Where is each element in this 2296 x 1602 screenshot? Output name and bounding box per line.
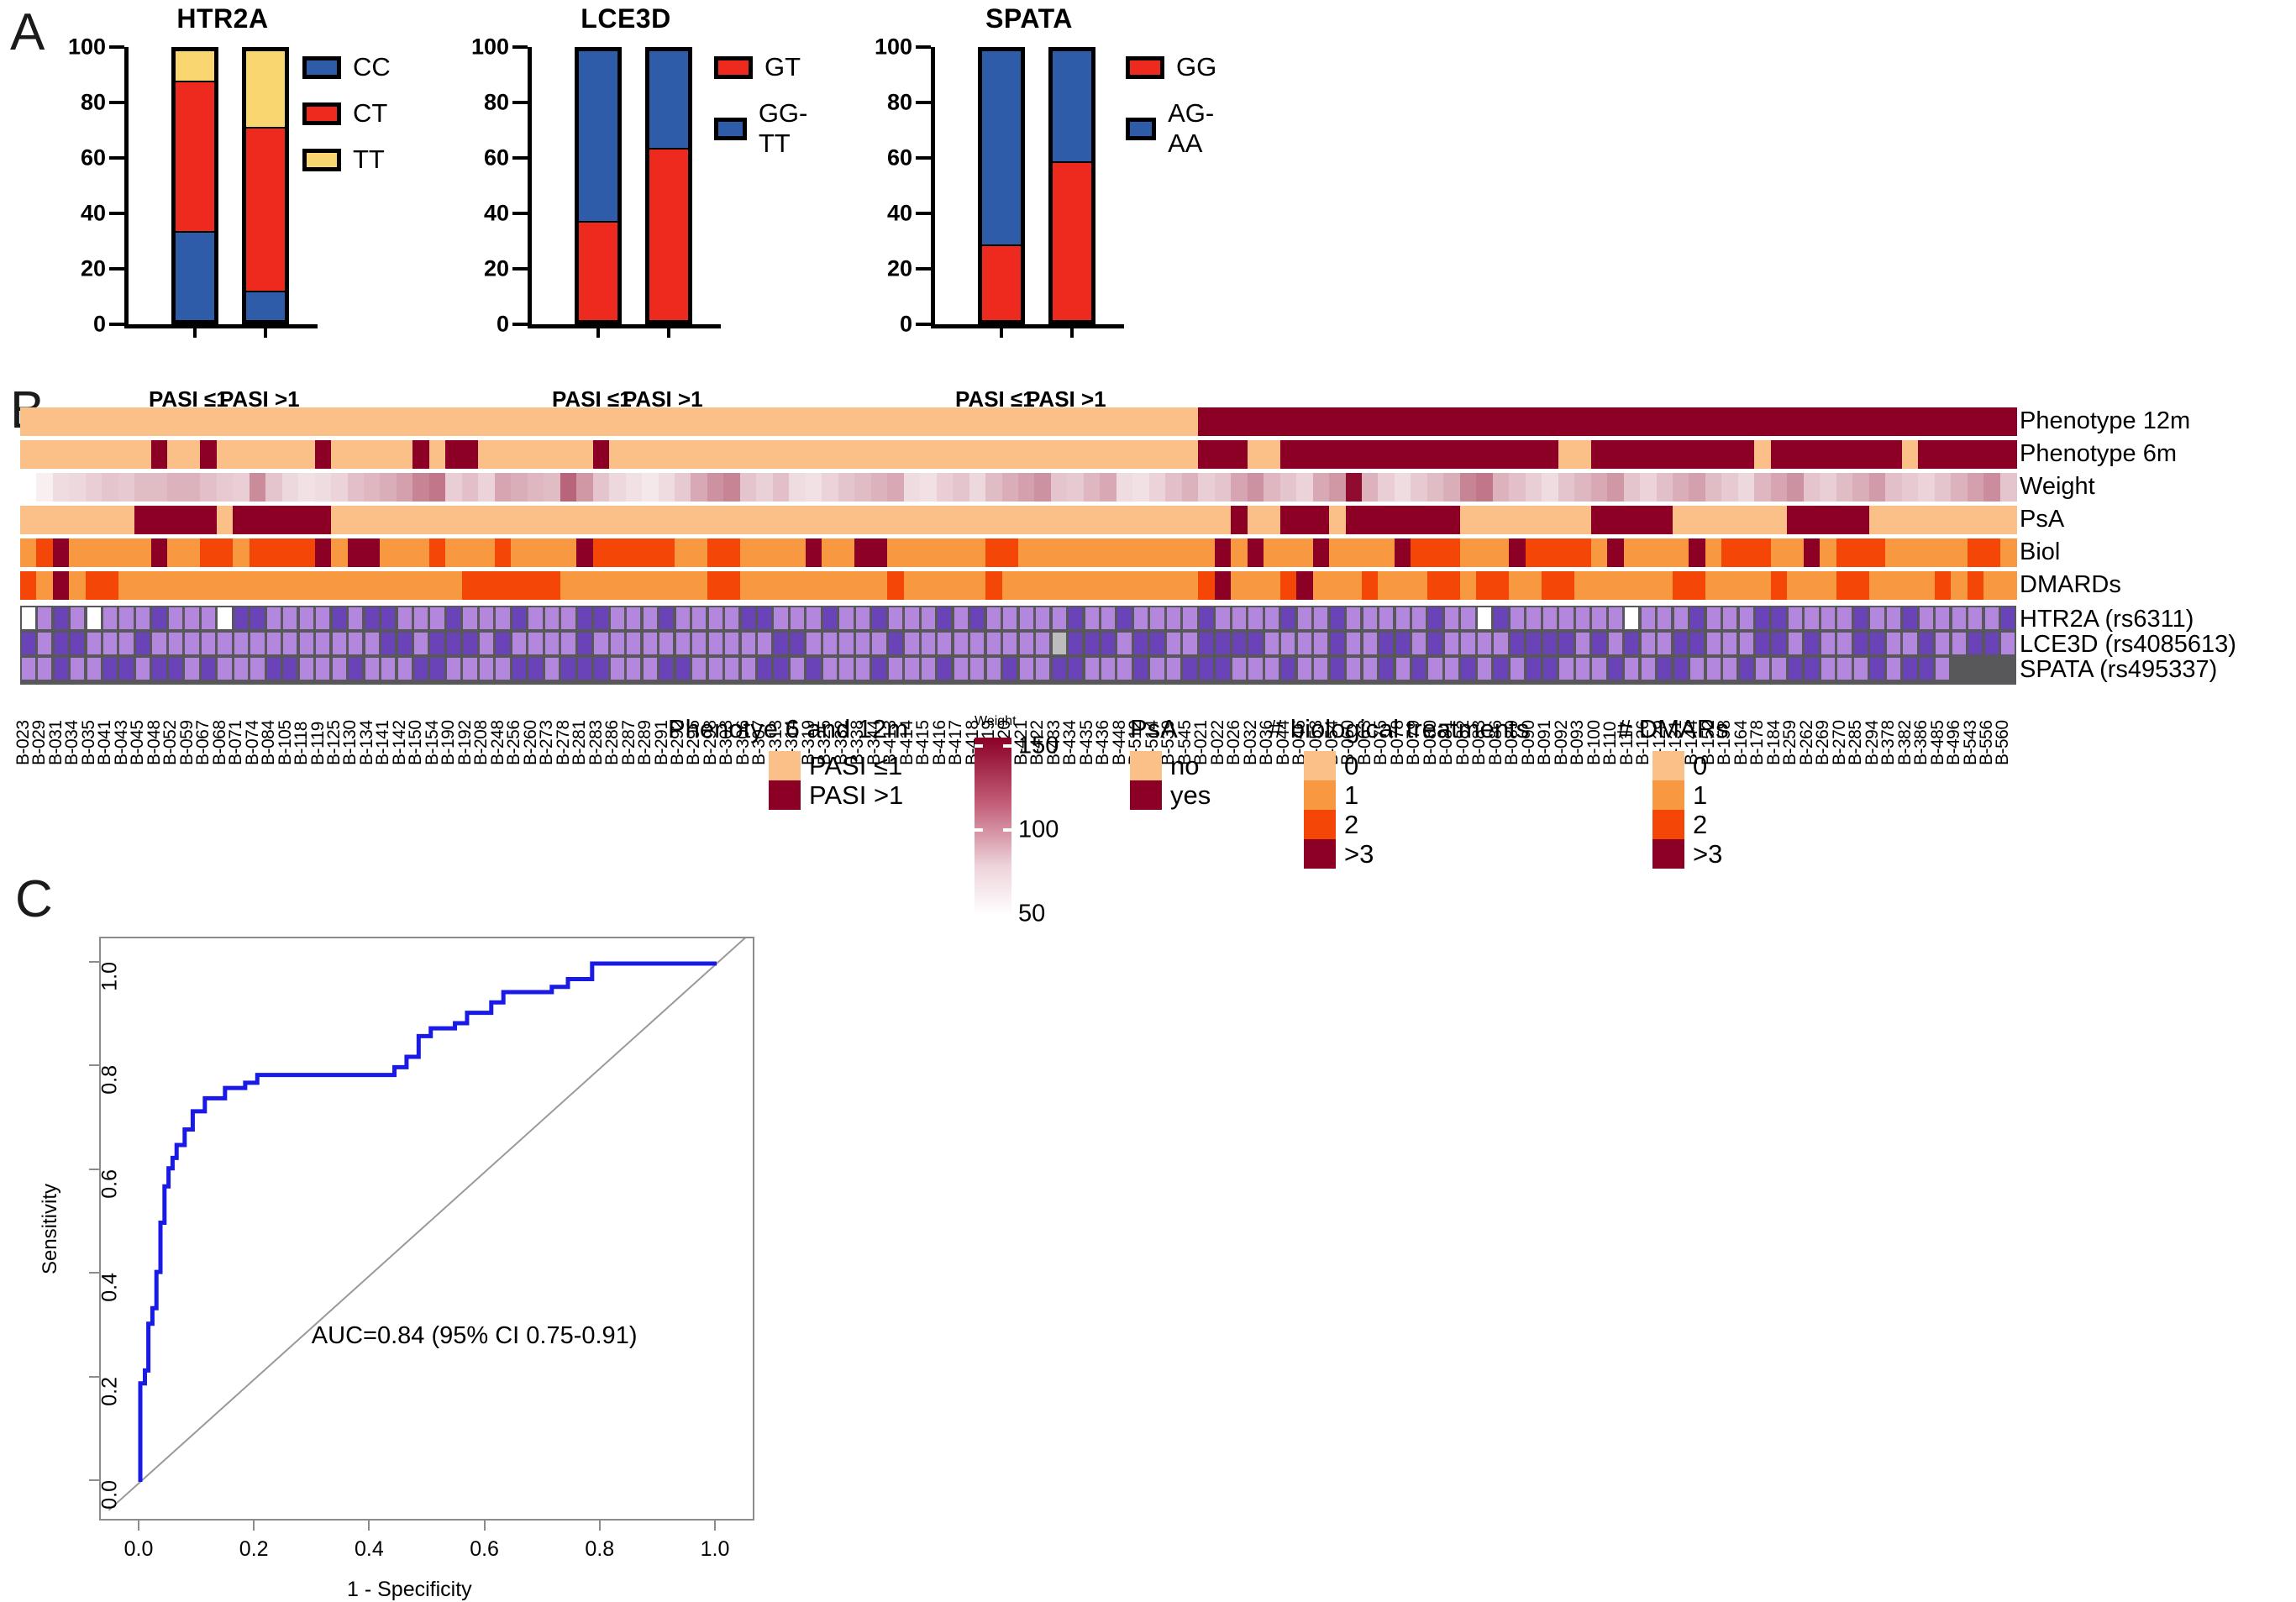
heatmap-cell bbox=[1443, 538, 1460, 567]
heatmap-cell bbox=[134, 473, 151, 502]
snp-cell bbox=[1658, 658, 1671, 680]
heatmap-cell bbox=[478, 571, 495, 600]
heatmap-cell bbox=[675, 571, 691, 600]
plot-area: 020406080100PASI ≤1PASI >1 bbox=[931, 47, 1099, 324]
snp-cell bbox=[709, 658, 722, 680]
snp-cell bbox=[774, 658, 787, 680]
heatmap-cell bbox=[1607, 506, 1624, 534]
heatmap-cell bbox=[1689, 506, 1705, 534]
snp-cell bbox=[1281, 658, 1295, 680]
heatmap-cell bbox=[1493, 473, 1510, 502]
heatmap-cell bbox=[544, 571, 560, 600]
snp-cell bbox=[185, 658, 198, 680]
snp-cell bbox=[1347, 607, 1360, 629]
heatmap-cell bbox=[1754, 440, 1771, 469]
heatmap-cell bbox=[1248, 440, 1264, 469]
heatmap-cell bbox=[1280, 440, 1297, 469]
heatmap-cell bbox=[1313, 407, 1330, 436]
heatmap-cell bbox=[854, 571, 871, 600]
heatmap-cell bbox=[233, 506, 250, 534]
heatmap-cell bbox=[412, 538, 429, 567]
snp-cell bbox=[1723, 633, 1736, 654]
legend-swatch bbox=[1304, 780, 1336, 810]
snp-cell bbox=[627, 607, 640, 629]
heatmap-cell bbox=[348, 440, 365, 469]
roc-x-tick-mark bbox=[484, 1521, 486, 1531]
heatmap-cell bbox=[478, 407, 495, 436]
snp-cell bbox=[136, 658, 150, 680]
heatmap-cell bbox=[756, 506, 773, 534]
heatmap-cell bbox=[1885, 571, 1902, 600]
snp-cell bbox=[1363, 658, 1377, 680]
heatmap-cell bbox=[298, 407, 315, 436]
snp-cell bbox=[300, 607, 313, 629]
heatmap-cell bbox=[1362, 571, 1379, 600]
snp-cell bbox=[1805, 607, 1818, 629]
heatmap-cell bbox=[723, 506, 740, 534]
snp-cell bbox=[806, 658, 820, 680]
heatmap-row-label: Phenotype 12m bbox=[2020, 409, 2190, 433]
heatmap-cell bbox=[1902, 473, 1919, 502]
heatmap-cell bbox=[544, 506, 560, 534]
heatmap-cell bbox=[1346, 473, 1363, 502]
heatmap-cell bbox=[1640, 440, 1657, 469]
heatmap-cell bbox=[1591, 538, 1608, 567]
snp-cell bbox=[561, 633, 575, 654]
snp-cell bbox=[1216, 607, 1229, 629]
heatmap-cell bbox=[1721, 538, 1738, 567]
snp-cell bbox=[1526, 607, 1540, 629]
heatmap-cell bbox=[1509, 473, 1526, 502]
snp-cell bbox=[758, 658, 771, 680]
bar-segment-ct bbox=[246, 127, 285, 291]
heatmap-cell bbox=[53, 407, 70, 436]
heatmap-cell bbox=[233, 407, 250, 436]
bar-segment-gg bbox=[1053, 161, 1091, 320]
heatmap-cell bbox=[36, 506, 53, 534]
sample-id-label: B-560 bbox=[1993, 720, 2013, 765]
snp-cell bbox=[250, 633, 264, 654]
snp-cell bbox=[447, 607, 460, 629]
heatmap-cell bbox=[1411, 407, 1427, 436]
heatmap-cell bbox=[1836, 506, 1853, 534]
heatmap-cell bbox=[462, 473, 479, 502]
snp-cell bbox=[774, 633, 787, 654]
snp-cell bbox=[381, 658, 395, 680]
heatmap-cell bbox=[1607, 407, 1624, 436]
heatmap-cell bbox=[1705, 538, 1722, 567]
y-tick-label: 40 bbox=[81, 201, 106, 227]
heatmap-cell bbox=[1427, 407, 1444, 436]
snp-cell bbox=[611, 607, 624, 629]
heatmap-cell bbox=[1624, 506, 1641, 534]
heatmap-cell bbox=[1264, 538, 1280, 567]
chart-title: HTR2A bbox=[25, 3, 420, 34]
heatmap-cell bbox=[1116, 538, 1133, 567]
snp-cell bbox=[316, 633, 329, 654]
heatmap-cell bbox=[887, 506, 904, 534]
snp-cell bbox=[839, 658, 853, 680]
snp-cell bbox=[38, 658, 51, 680]
snp-cell bbox=[512, 633, 526, 654]
y-tick-label: 100 bbox=[875, 34, 912, 60]
snp-cell bbox=[333, 658, 346, 680]
snp-cell bbox=[1985, 607, 1999, 629]
roc-x-tick-mark bbox=[714, 1521, 716, 1531]
heatmap-cell bbox=[626, 506, 643, 534]
heatmap-cell bbox=[265, 538, 282, 567]
snp-cell bbox=[1216, 633, 1229, 654]
heatmap-cell bbox=[1902, 407, 1919, 436]
heatmap-cell bbox=[920, 506, 937, 534]
heatmap-cell bbox=[723, 440, 740, 469]
heatmap-cell bbox=[2000, 538, 2017, 567]
heatmap-cell bbox=[626, 440, 643, 469]
snp-cell bbox=[594, 658, 607, 680]
snp-cell bbox=[1543, 633, 1557, 654]
heatmap-cell bbox=[985, 506, 1002, 534]
heatmap-cell bbox=[1983, 506, 2000, 534]
heatmap-cell bbox=[1968, 506, 1984, 534]
heatmap-cell bbox=[544, 538, 560, 567]
heatmap-cell bbox=[1002, 538, 1019, 567]
heatmap-cell bbox=[1526, 538, 1542, 567]
y-tick-mark bbox=[512, 212, 528, 215]
heatmap-cell bbox=[1248, 506, 1264, 534]
roc-y-tick-label: 0.6 bbox=[97, 1169, 122, 1199]
heatmap-cell bbox=[1231, 571, 1248, 600]
heatmap-cell bbox=[1165, 407, 1182, 436]
snp-cell bbox=[938, 633, 951, 654]
heatmap-cell bbox=[838, 538, 855, 567]
heatmap-cell bbox=[364, 538, 381, 567]
snp-cell bbox=[1952, 607, 1966, 629]
snp-cell bbox=[823, 607, 837, 629]
heatmap-cell bbox=[102, 473, 118, 502]
snp-cell bbox=[398, 607, 412, 629]
heatmap-cell bbox=[1574, 473, 1591, 502]
heatmap-cell bbox=[1264, 473, 1280, 502]
snp-cell bbox=[136, 607, 150, 629]
snp-cell bbox=[1837, 658, 1851, 680]
roc-x-tick-label: 0.8 bbox=[585, 1537, 614, 1562]
heatmap-cell bbox=[1968, 571, 1984, 600]
snp-cell bbox=[1903, 658, 1916, 680]
heatmap-cell bbox=[1362, 473, 1379, 502]
heatmap-cell bbox=[1526, 473, 1542, 502]
snp-cell bbox=[169, 607, 182, 629]
snp-cell bbox=[1101, 607, 1115, 629]
heatmap-cell bbox=[1542, 506, 1558, 534]
heatmap-cell bbox=[576, 473, 593, 502]
heatmap-cell bbox=[560, 473, 577, 502]
heatmap-cell bbox=[2000, 506, 2017, 534]
snp-genotype-grid bbox=[20, 606, 2016, 685]
snp-cell bbox=[1478, 607, 1491, 629]
heatmap-cell bbox=[282, 440, 299, 469]
heatmap-cell bbox=[1836, 407, 1853, 436]
heatmap-cell bbox=[1542, 440, 1558, 469]
snp-cell bbox=[987, 658, 1001, 680]
snp-cell bbox=[676, 658, 690, 680]
heatmap-cell bbox=[1460, 473, 1477, 502]
legend-swatch bbox=[302, 56, 341, 79]
heatmap-cell bbox=[1002, 506, 1019, 534]
heatmap-cell bbox=[1820, 571, 1836, 600]
legend-swatch bbox=[1304, 751, 1336, 780]
snp-cell bbox=[414, 633, 428, 654]
heatmap-cell bbox=[86, 473, 102, 502]
heatmap-cell bbox=[151, 407, 168, 436]
heatmap-cell bbox=[118, 440, 135, 469]
heatmap-cell bbox=[1149, 571, 1166, 600]
heatmap-cell bbox=[429, 407, 446, 436]
snp-cell bbox=[1805, 633, 1818, 654]
heatmap-cell bbox=[331, 571, 348, 600]
heatmap-cell bbox=[1591, 571, 1608, 600]
snp-cell bbox=[1936, 607, 1949, 629]
snp-cell bbox=[1232, 633, 1246, 654]
legend-item: CC bbox=[302, 52, 391, 82]
heatmap-cell bbox=[969, 473, 986, 502]
heatmap-cell bbox=[969, 538, 986, 567]
heatmap-cell bbox=[544, 440, 560, 469]
snp-cell bbox=[1707, 633, 1721, 654]
snp-cell bbox=[1887, 658, 1900, 680]
heatmap-cell bbox=[86, 440, 102, 469]
heatmap-cell bbox=[1395, 506, 1411, 534]
heatmap-cell bbox=[1329, 538, 1346, 567]
heatmap-cell bbox=[854, 538, 871, 567]
legend-label: PASI ≤1 bbox=[809, 751, 902, 781]
heatmap-cell bbox=[1787, 506, 1804, 534]
snp-cell bbox=[791, 658, 804, 680]
snp-cell bbox=[725, 658, 738, 680]
heatmap-cell bbox=[1427, 538, 1444, 567]
heatmap-cell bbox=[1951, 538, 1968, 567]
heatmap-cell bbox=[723, 571, 740, 600]
row-biol bbox=[20, 538, 2016, 567]
legend-swatch bbox=[769, 780, 801, 810]
x-tick-mark bbox=[667, 326, 670, 338]
heatmap-cell bbox=[1084, 473, 1101, 502]
plot-area: 020406080100PASI ≤1PASI >1 bbox=[124, 47, 292, 324]
heatmap-cell bbox=[1411, 538, 1427, 567]
heatmap-cell bbox=[1248, 538, 1264, 567]
heatmap-cell bbox=[151, 538, 168, 567]
heatmap-cell bbox=[659, 407, 675, 436]
heatmap-cell bbox=[53, 506, 70, 534]
heatmap-cell bbox=[1574, 407, 1591, 436]
snp-cell bbox=[1379, 633, 1393, 654]
heatmap-cell bbox=[740, 440, 757, 469]
legend-phenotype: Phenotye 6 and 12mPASI ≤1PASI >1 bbox=[668, 714, 908, 810]
heatmap-cell bbox=[1051, 407, 1068, 436]
heatmap-cell bbox=[315, 407, 332, 436]
snp-cell bbox=[1347, 633, 1360, 654]
bar-segment-gg-tt bbox=[579, 51, 617, 221]
heatmap-cell bbox=[1034, 440, 1051, 469]
heatmap-cell bbox=[560, 571, 577, 600]
y-tick-label: 40 bbox=[484, 201, 509, 227]
snp-cell bbox=[1854, 633, 1868, 654]
snp-cell bbox=[1428, 633, 1442, 654]
snp-cell bbox=[1870, 633, 1884, 654]
heatmap-cell bbox=[740, 407, 757, 436]
heatmap-cell bbox=[429, 440, 446, 469]
heatmap-cell bbox=[1640, 571, 1657, 600]
plot-area: 020406080100PASI ≤1PASI >1 bbox=[528, 47, 696, 324]
snp-cell bbox=[1281, 607, 1295, 629]
snp-cell bbox=[905, 607, 918, 629]
heatmap-cell bbox=[1264, 440, 1280, 469]
heatmap-cell bbox=[1264, 407, 1280, 436]
snp-cell bbox=[1805, 658, 1818, 680]
heatmap-cell bbox=[511, 407, 528, 436]
heatmap-cell bbox=[1051, 473, 1068, 502]
heatmap-cell bbox=[1198, 571, 1215, 600]
heatmap-cell bbox=[69, 571, 86, 600]
heatmap-cell bbox=[1526, 407, 1542, 436]
y-tick-label: 80 bbox=[81, 90, 106, 116]
heatmap-cell bbox=[233, 473, 250, 502]
snp-cell bbox=[430, 607, 444, 629]
heatmap-cell bbox=[1002, 571, 1019, 600]
heatmap-cell bbox=[1460, 571, 1477, 600]
heatmap-cell bbox=[348, 571, 365, 600]
heatmap-cell bbox=[69, 440, 86, 469]
chart-legend: GGAG-AA bbox=[1126, 52, 1227, 175]
snp-cell bbox=[659, 658, 673, 680]
snp-cell bbox=[578, 607, 591, 629]
snp-cell bbox=[954, 633, 968, 654]
x-tick-mark bbox=[1000, 326, 1003, 338]
heatmap-cell bbox=[1329, 506, 1346, 534]
roc-x-tick-mark bbox=[599, 1521, 601, 1531]
heatmap-cell bbox=[1100, 473, 1116, 502]
snp-cell bbox=[136, 633, 150, 654]
heatmap-cell bbox=[953, 538, 969, 567]
snp-cell bbox=[1298, 633, 1311, 654]
heatmap-cell bbox=[723, 407, 740, 436]
heatmap-cell bbox=[789, 538, 806, 567]
heatmap-cell bbox=[659, 571, 675, 600]
snp-cell bbox=[1200, 633, 1213, 654]
heatmap-cell bbox=[331, 506, 348, 534]
heatmap-cell bbox=[118, 407, 135, 436]
chart-title: SPATA bbox=[832, 3, 1227, 34]
snp-cell bbox=[1150, 607, 1164, 629]
heatmap-cell bbox=[1558, 440, 1575, 469]
y-tick-label: 0 bbox=[497, 312, 509, 338]
heatmap-cell bbox=[184, 407, 201, 436]
heatmap-cell bbox=[1231, 440, 1248, 469]
snp-cell bbox=[938, 607, 951, 629]
heatmap-cell bbox=[1657, 440, 1673, 469]
heatmap-cell bbox=[1852, 473, 1869, 502]
heatmap-cell bbox=[1885, 440, 1902, 469]
heatmap-cell bbox=[412, 571, 429, 600]
heatmap-cell bbox=[1558, 473, 1575, 502]
snp-cell bbox=[1609, 607, 1622, 629]
heatmap-cell bbox=[838, 571, 855, 600]
heatmap-cell bbox=[282, 473, 299, 502]
heatmap-cell bbox=[1067, 506, 1084, 534]
y-tick-label: 20 bbox=[887, 256, 912, 282]
snp-cell bbox=[250, 607, 264, 629]
legend-swatch bbox=[769, 751, 801, 780]
heatmap-cell bbox=[1034, 473, 1051, 502]
heatmap-cell bbox=[1754, 538, 1771, 567]
heatmap-cell bbox=[511, 571, 528, 600]
snp-cell bbox=[1789, 607, 1802, 629]
heatmap-cell bbox=[691, 506, 707, 534]
heatmap-cell bbox=[1329, 571, 1346, 600]
heatmap-cell bbox=[1395, 571, 1411, 600]
snp-cell bbox=[169, 658, 182, 680]
snp-cell bbox=[1101, 633, 1115, 654]
heatmap-cell bbox=[1771, 538, 1788, 567]
snp-cell bbox=[152, 607, 166, 629]
heatmap-cell bbox=[1640, 506, 1657, 534]
heatmap-cell bbox=[1362, 440, 1379, 469]
roc-y-axis-label: Sensitivity bbox=[39, 1183, 62, 1274]
legend-swatch bbox=[1130, 751, 1162, 780]
heatmap-cell bbox=[1280, 473, 1297, 502]
heatmap-cell bbox=[1558, 571, 1575, 600]
snp-cell bbox=[1134, 633, 1148, 654]
heatmap-cell bbox=[1296, 571, 1313, 600]
x-axis bbox=[931, 324, 1124, 328]
heatmap-cell bbox=[200, 407, 217, 436]
heatmap-cell bbox=[397, 407, 413, 436]
roc-y-tick-label: 1.0 bbox=[97, 962, 122, 991]
heatmap-cell bbox=[298, 571, 315, 600]
legend-psa-title: PsA bbox=[1130, 714, 1211, 744]
snp-cell bbox=[1331, 658, 1344, 680]
legend-label: 2 bbox=[1693, 810, 1707, 840]
heatmap-cell bbox=[1918, 506, 1935, 534]
snp-cell bbox=[218, 633, 231, 654]
y-tick-label: 60 bbox=[887, 145, 912, 171]
heatmap-cell bbox=[854, 506, 871, 534]
heatmap-cell bbox=[920, 407, 937, 436]
heatmap-cell bbox=[1346, 407, 1363, 436]
snp-cell bbox=[938, 658, 951, 680]
snp-cell bbox=[1396, 658, 1410, 680]
heatmap-cell bbox=[1657, 538, 1673, 567]
heatmap-cell bbox=[1983, 538, 2000, 567]
heatmap-cell bbox=[118, 473, 135, 502]
snp-cell bbox=[806, 633, 820, 654]
heatmap-cell bbox=[102, 506, 118, 534]
legend-label: TT bbox=[353, 144, 385, 175]
snp-cell bbox=[38, 633, 51, 654]
heatmap-cell bbox=[1836, 440, 1853, 469]
heatmap-cell bbox=[86, 506, 102, 534]
heatmap-cell bbox=[1902, 571, 1919, 600]
heatmap-cell bbox=[1771, 407, 1788, 436]
heatmap-cell bbox=[1132, 473, 1149, 502]
heatmap-cell bbox=[1738, 407, 1755, 436]
snp-cell bbox=[2001, 633, 2015, 654]
bar-segment-cc bbox=[176, 231, 214, 320]
snp-cell bbox=[1036, 658, 1049, 680]
heatmap-cell bbox=[200, 538, 217, 567]
row-phenotype-6m bbox=[20, 440, 2016, 469]
heatmap-cell bbox=[1002, 473, 1019, 502]
heatmap-cell bbox=[1558, 407, 1575, 436]
